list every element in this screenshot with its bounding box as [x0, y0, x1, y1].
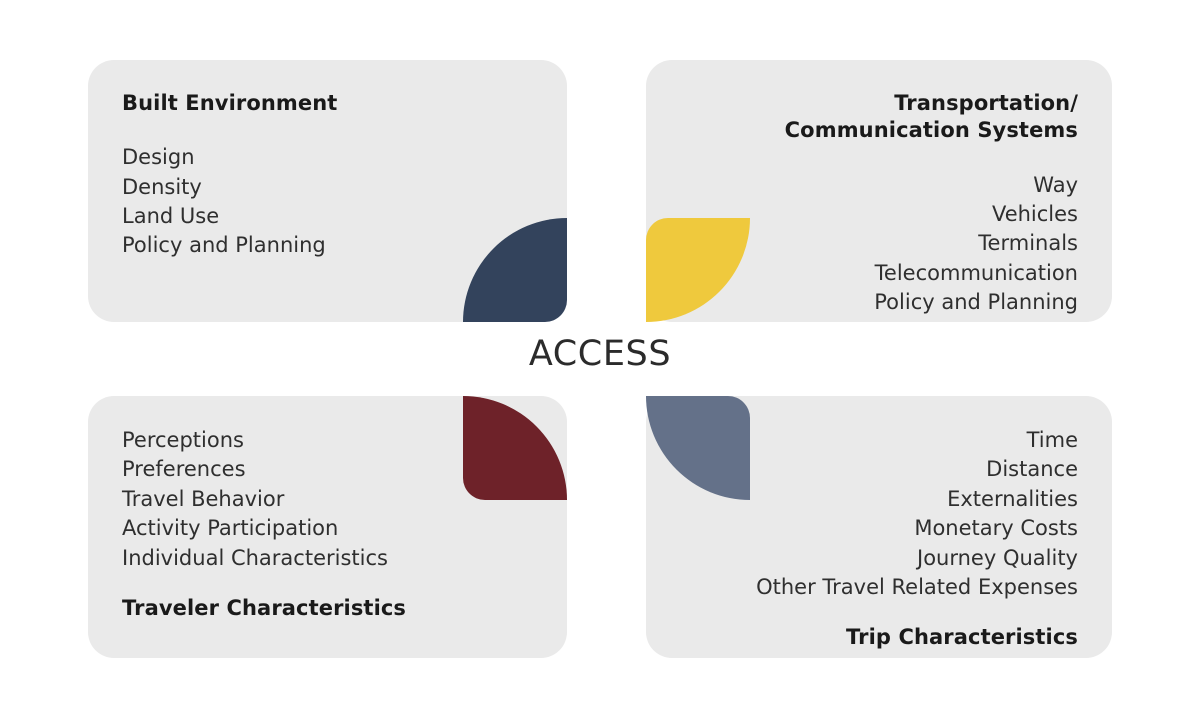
list-item: Policy and Planning: [122, 231, 326, 260]
quadrant-title-transportation-communication-systems: Transportation/ Communication Systems: [785, 90, 1078, 145]
list-item: Other Travel Related Expenses: [756, 573, 1078, 602]
list-item: Activity Participation: [122, 514, 388, 543]
list-item: Externalities: [756, 485, 1078, 514]
list-item: Time: [756, 426, 1078, 455]
list-item: Vehicles: [874, 200, 1078, 229]
list-item: Policy and Planning: [874, 288, 1078, 317]
list-item: Travel Behavior: [122, 485, 388, 514]
quadrant-item-list-traveler-characteristics: Perceptions Preferences Travel Behavior …: [122, 426, 388, 573]
list-item: Individual Characteristics: [122, 544, 388, 573]
list-item: Monetary Costs: [756, 514, 1078, 543]
quadrant-item-list-trip-characteristics: Time Distance Externalities Monetary Cos…: [756, 426, 1078, 602]
list-item: Preferences: [122, 455, 388, 484]
quadrant-title-built-environment: Built Environment: [122, 90, 337, 117]
list-item: Telecommunication: [874, 259, 1078, 288]
list-item: Journey Quality: [756, 544, 1078, 573]
list-item: Distance: [756, 455, 1078, 484]
center-label-access: ACCESS: [0, 334, 1200, 374]
access-framework-diagram: Built Environment Design Density Land Us…: [0, 0, 1200, 720]
list-item: Density: [122, 173, 326, 202]
quadrant-item-list-built-environment: Design Density Land Use Policy and Plann…: [122, 143, 326, 261]
list-item: Design: [122, 143, 326, 172]
list-item: Way: [874, 171, 1078, 200]
list-item: Land Use: [122, 202, 326, 231]
quadrant-title-trip-characteristics: Trip Characteristics: [846, 624, 1078, 651]
quadrant-item-list-transportation-communication-systems: Way Vehicles Terminals Telecommunication…: [874, 171, 1078, 318]
list-item: Terminals: [874, 229, 1078, 258]
quadrant-title-traveler-characteristics: Traveler Characteristics: [122, 595, 406, 622]
list-item: Perceptions: [122, 426, 388, 455]
